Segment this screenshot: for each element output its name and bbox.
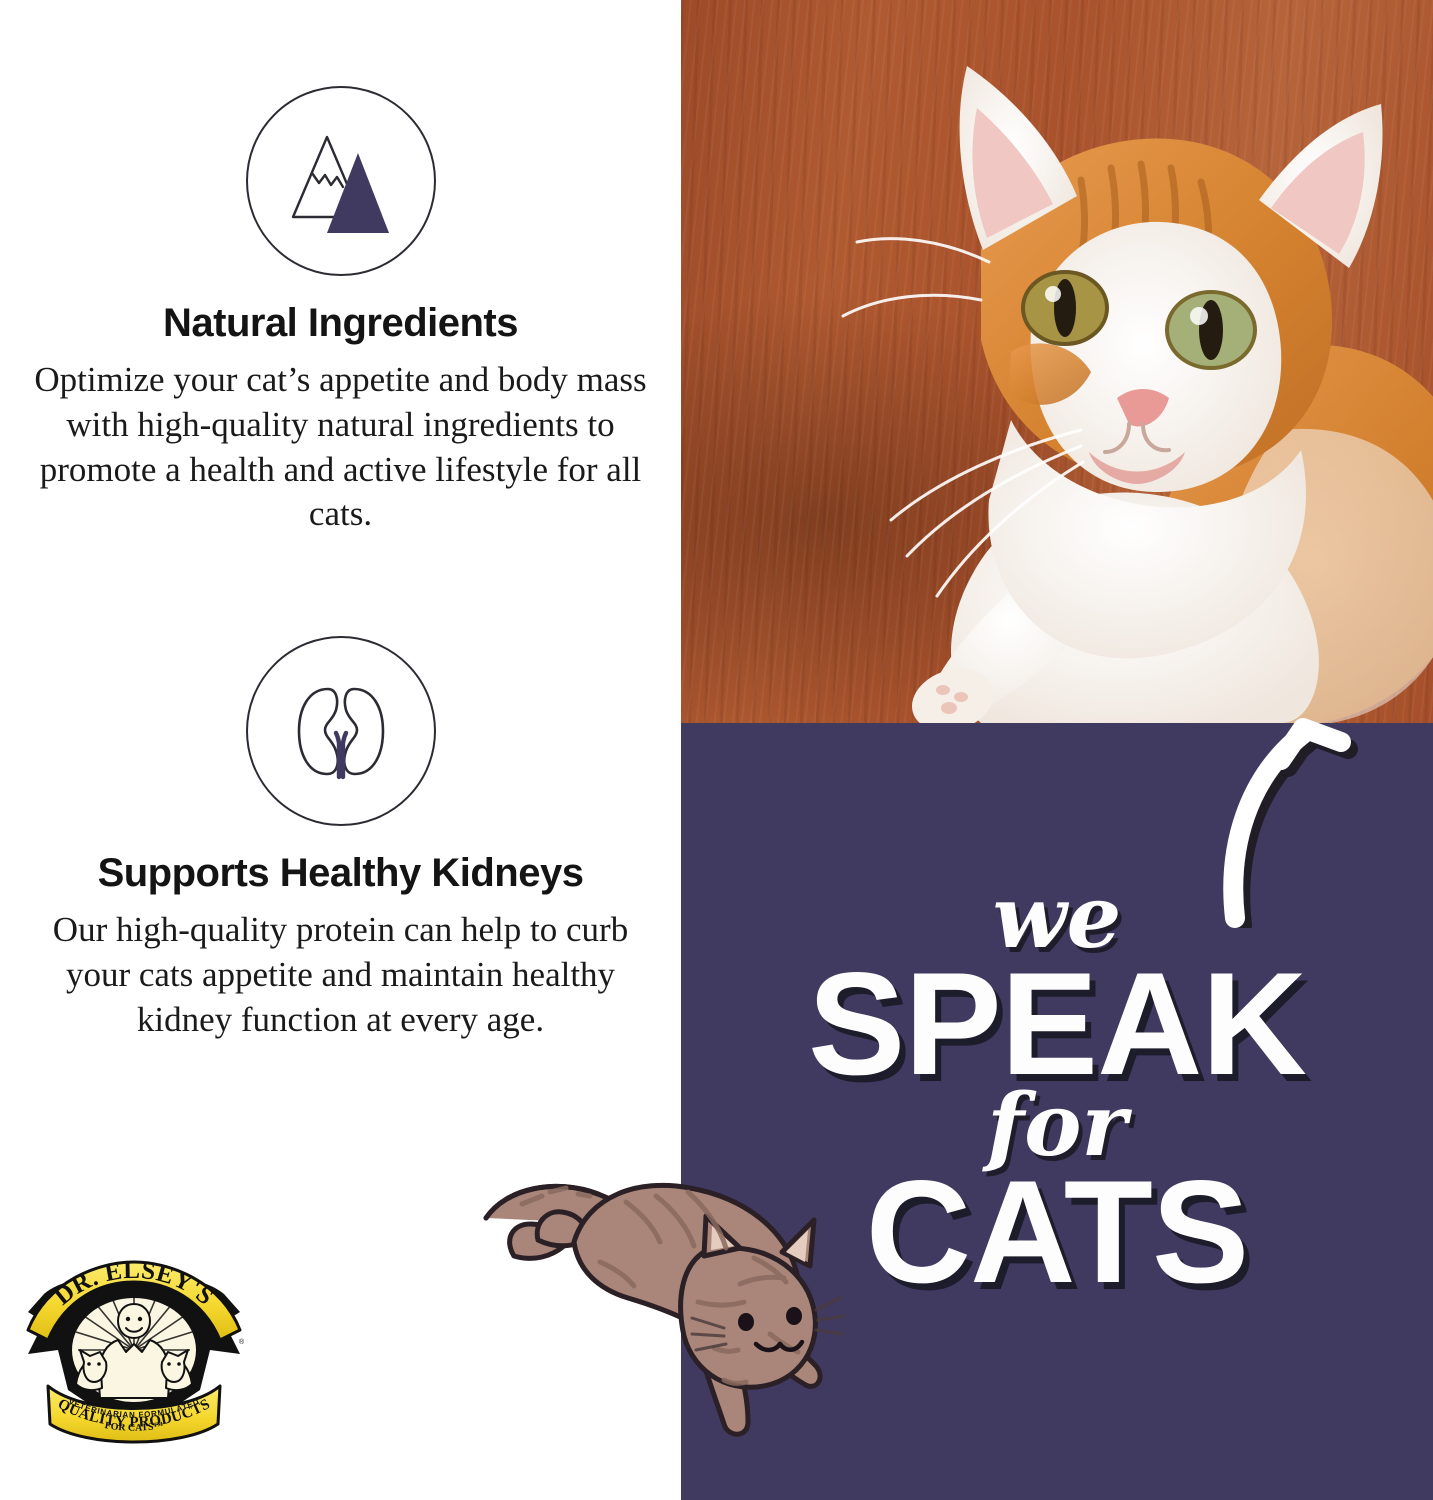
feature-supports-healthy-kidneys: Supports Healthy Kidneys Our high-qualit… bbox=[0, 636, 681, 1042]
feature-natural-ingredients: Natural Ingredients Optimize your cat’s … bbox=[0, 86, 681, 537]
mountain-icon bbox=[246, 86, 436, 276]
product-feature-infographic: Natural Ingredients Optimize your cat’s … bbox=[0, 0, 1433, 1500]
feature-title: Supports Healthy Kidneys bbox=[0, 852, 681, 894]
feature-title: Natural Ingredients bbox=[0, 302, 681, 344]
feature-body: Optimize your cat’s appetite and body ma… bbox=[21, 358, 661, 537]
feature-body: Our high-quality protein can help to cur… bbox=[41, 908, 641, 1042]
kidneys-icon bbox=[246, 636, 436, 826]
logo-registered-mark: ® bbox=[239, 1338, 245, 1346]
jumping-tabby-cat-illustration bbox=[478, 1152, 848, 1452]
orange-white-cat-photo bbox=[681, 0, 1433, 723]
dr-elseys-logo: DR. ELSEY'S ® VETERINARIAN FORMULATED QU… bbox=[14, 1258, 254, 1444]
